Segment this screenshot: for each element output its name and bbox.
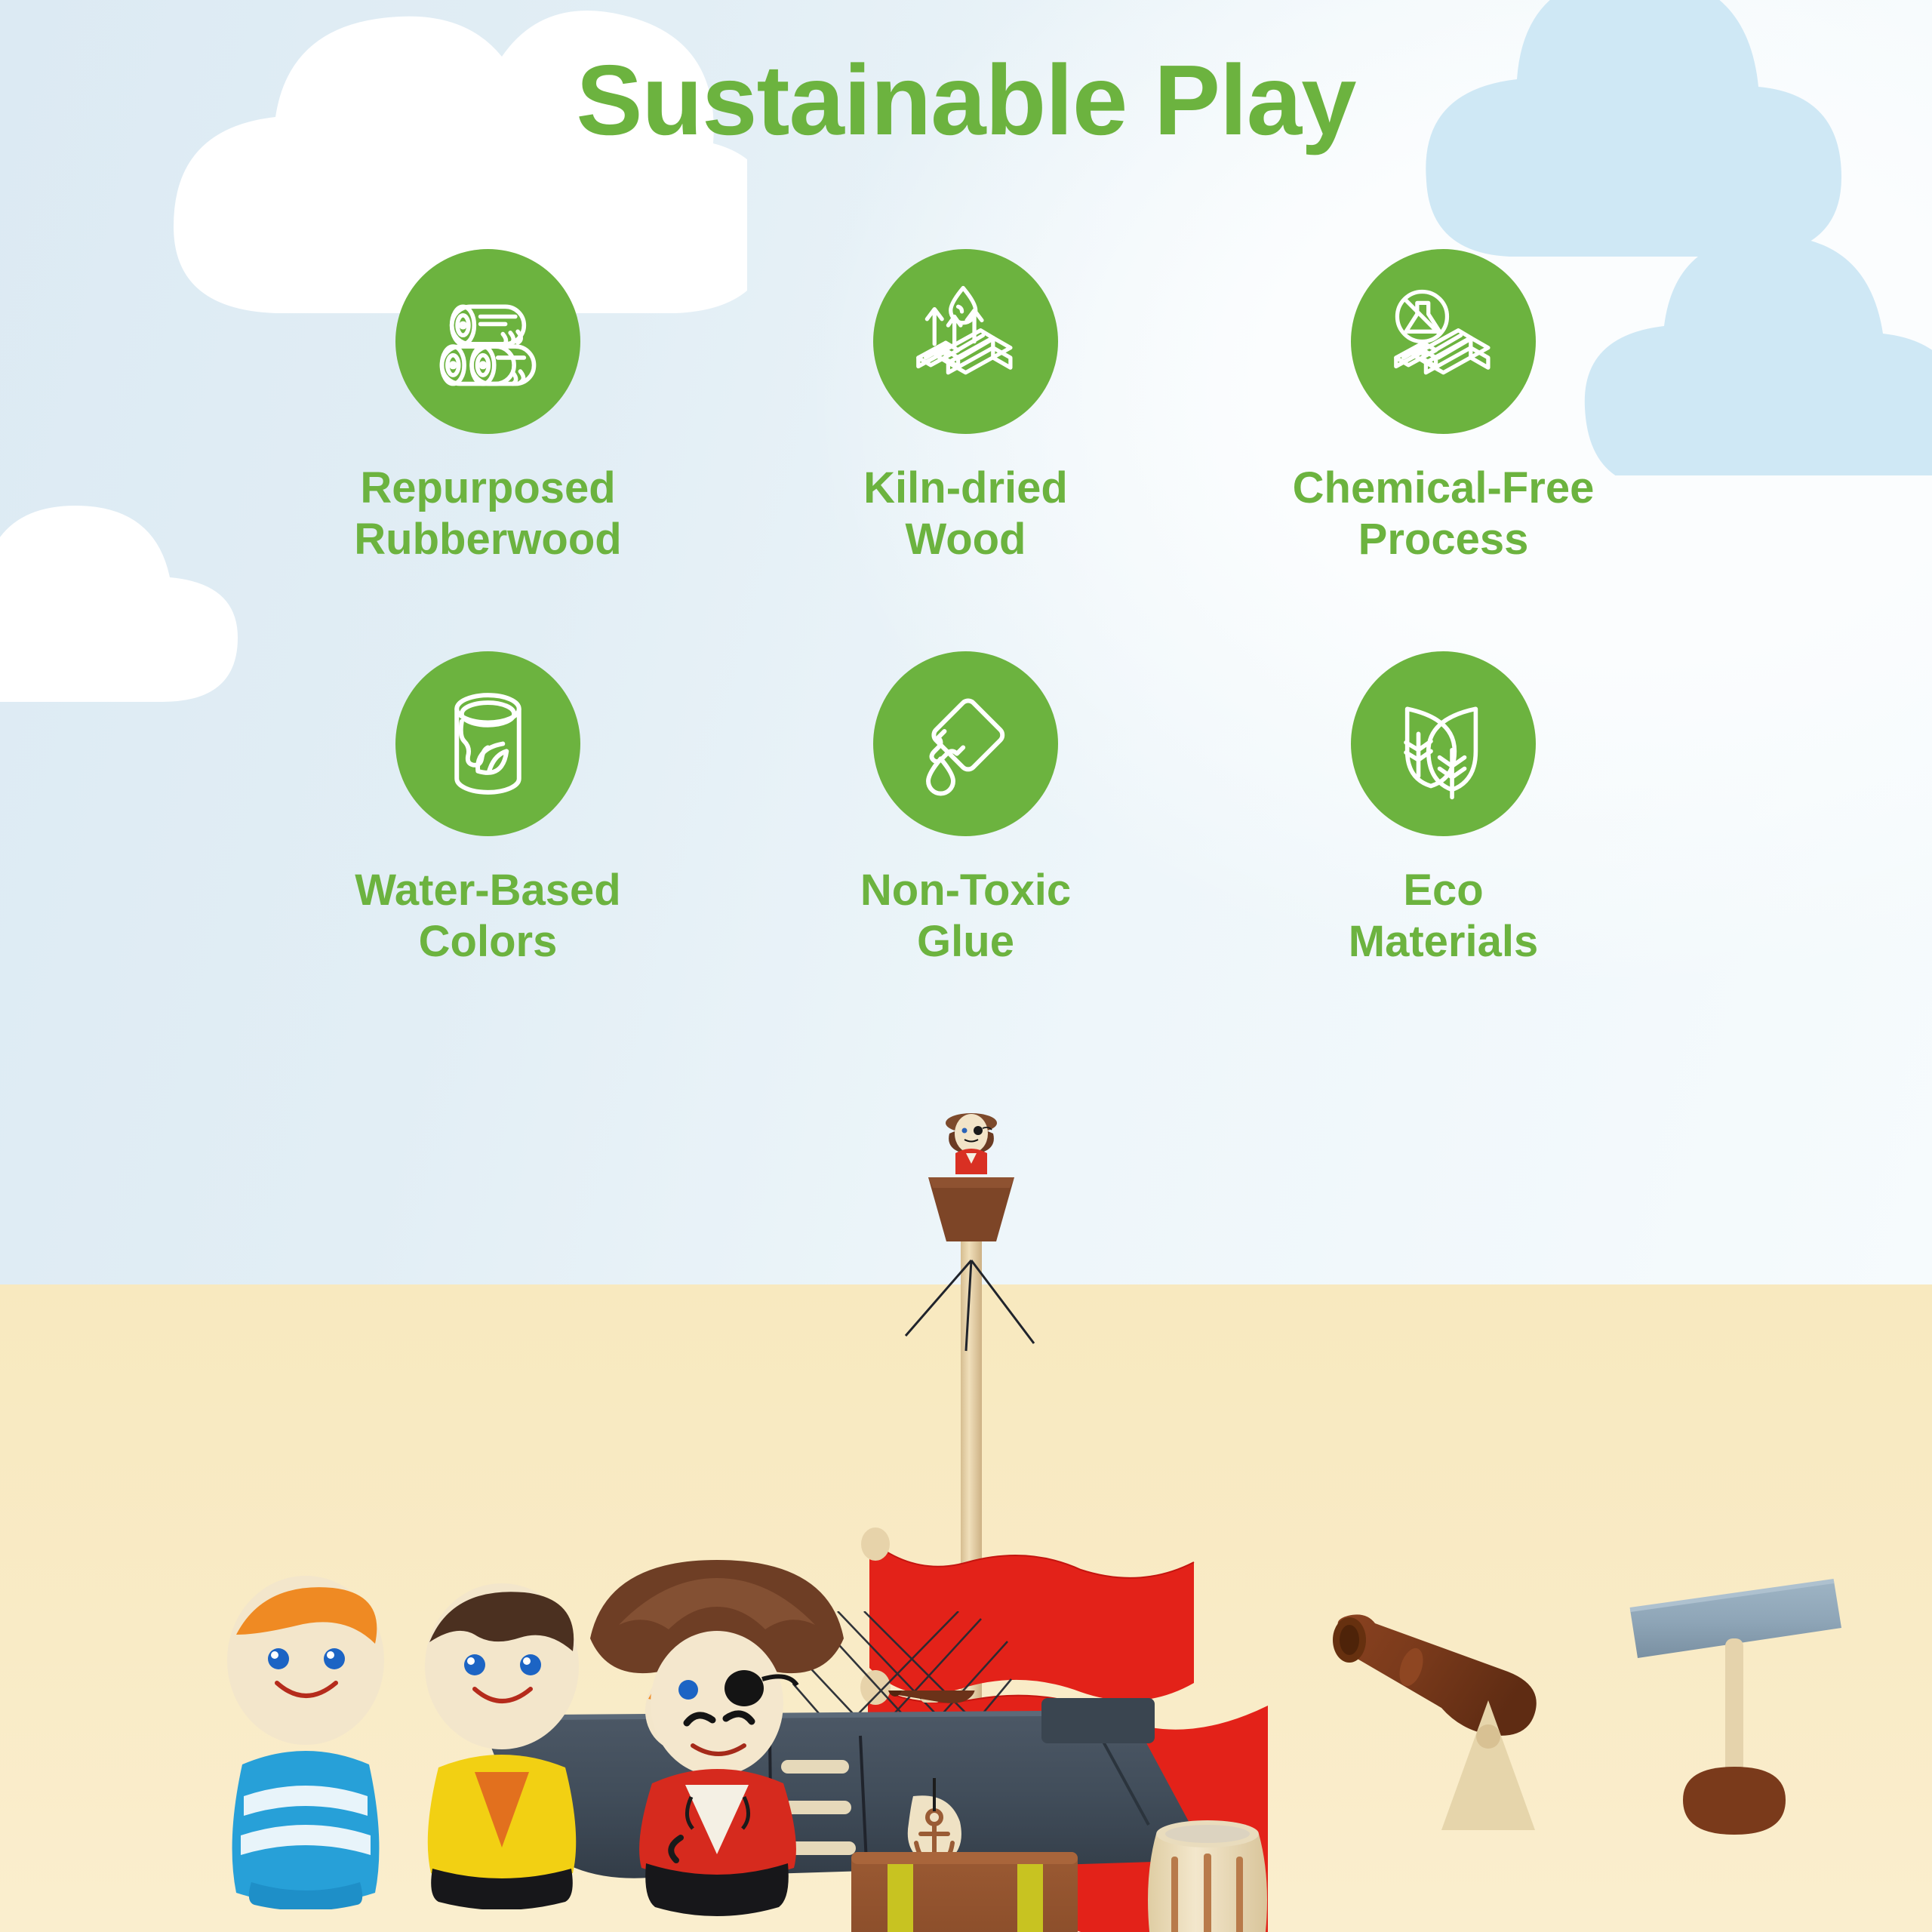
wooden-pirate-ship-playset [0,1041,1932,1932]
feature-row-1: Repurposed Rubberwood [249,249,1683,566]
feature-label: Repurposed Rubberwood [354,463,621,566]
feature-label: Eco Materials [1349,865,1538,968]
pirate-captain-figure [574,1543,860,1921]
cannon-on-wedge-stand [1313,1604,1630,1853]
sustainable-play-infographic: Sustainable Play [0,0,1932,1932]
feature-item-eco-materials[interactable]: Eco Materials [1204,651,1682,968]
feature-badge [873,249,1058,434]
glue-bottle-drop-icon [903,681,1028,806]
telescope-on-stand [1615,1574,1872,1860]
no-chemicals-planks-icon [1381,279,1506,404]
feature-label: Chemical-Free Process [1293,463,1595,566]
feature-badge [395,249,580,434]
feature-badge [395,651,580,836]
feature-grid: Repurposed Rubberwood [249,249,1683,968]
two-leaves-icon [1381,681,1506,806]
feature-row-2: Water-Based Colors Non-Toxic Glue [249,651,1683,968]
feature-item-water-based-colors[interactable]: Water-Based Colors [249,651,727,968]
treasure-chest [845,1841,1087,1932]
feature-label: Non-Toxic Glue [860,865,1071,968]
feature-badge [1351,249,1536,434]
stacked-logs-icon [426,279,550,404]
wooden-barrel [1124,1804,1291,1932]
feature-badge [1351,651,1536,836]
cloud-white-small-left [0,498,272,724]
feature-label: Water-Based Colors [355,865,620,968]
peg-figure-blue-striped [200,1570,411,1909]
feature-item-repurposed-rubberwood[interactable]: Repurposed Rubberwood [249,249,727,566]
page-title: Sustainable Play [0,45,1932,155]
feature-label: Kiln-dried Wood [863,463,1068,566]
feature-item-kiln-dried-wood[interactable]: Kiln-dried Wood [727,249,1204,566]
paint-can-leaf-icon [426,681,550,806]
grid-row-gap [249,566,1683,651]
feature-badge [873,651,1058,836]
feature-item-chemical-free-process[interactable]: Chemical-Free Process [1204,249,1682,566]
feature-item-non-toxic-glue[interactable]: Non-Toxic Glue [727,651,1204,968]
kiln-dried-planks-icon [903,279,1028,404]
